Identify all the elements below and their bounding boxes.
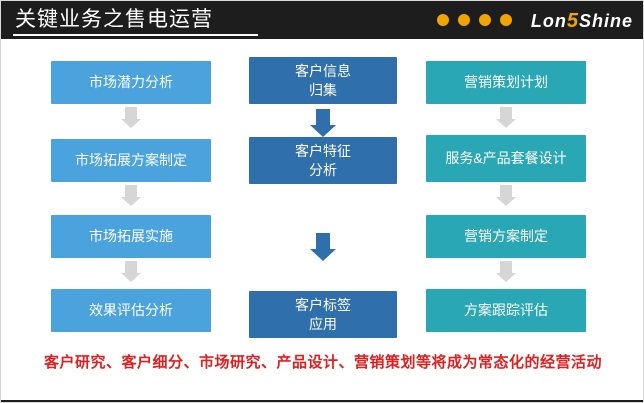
flow-box-market-3[interactable]: 市场拓展实施 xyxy=(51,215,211,258)
page-title: 关键业务之售电运营 xyxy=(15,7,213,33)
brand-logo: Lon5Shine xyxy=(531,10,633,33)
logo-dot-icon xyxy=(458,14,470,26)
flow-box-market-2[interactable]: 市场拓展方案制定 xyxy=(51,139,211,182)
flow-box-marketing-4[interactable]: 方案跟踪评估 xyxy=(426,289,586,332)
flow-box-customer-3[interactable]: 客户标签 应用 xyxy=(249,291,397,338)
flow-box-customer-2[interactable]: 客户特征 分析 xyxy=(249,137,397,184)
brand-logo-left: Lon xyxy=(531,11,567,31)
logo-dot-icon xyxy=(479,14,491,26)
flow-box-customer-1[interactable]: 客户信息 归集 xyxy=(249,57,397,104)
flow-box-marketing-1[interactable]: 营销策划计划 xyxy=(426,61,586,104)
logo-dots xyxy=(437,14,517,27)
flow-box-market-4[interactable]: 效果评估分析 xyxy=(51,289,211,332)
title-underline xyxy=(13,34,258,36)
footer-note: 客户研究、客户细分、市场研究、产品设计、营销策划等将成为常态化的经营活动 xyxy=(1,351,644,372)
logo-dot-icon xyxy=(500,14,512,26)
flow-box-marketing-2[interactable]: 服务&产品套餐设计 xyxy=(426,135,586,182)
slide: 关键业务之售电运营 Lon5Shine 市场潜力分析 市场拓展方案制定 市场拓展… xyxy=(0,0,644,403)
slide-header: 关键业务之售电运营 Lon5Shine xyxy=(1,1,644,39)
bottom-bar xyxy=(1,400,644,402)
brand-logo-right: Shine xyxy=(579,11,633,31)
diagram-canvas: 市场潜力分析 市场拓展方案制定 市场拓展实施 效果评估分析 客户信息 归集 客户… xyxy=(1,39,644,402)
flow-box-marketing-3[interactable]: 营销方案制定 xyxy=(426,215,586,258)
brand-logo-accent: 5 xyxy=(567,10,579,32)
logo-dot-icon xyxy=(437,14,449,26)
flow-box-market-1[interactable]: 市场潜力分析 xyxy=(51,61,211,104)
